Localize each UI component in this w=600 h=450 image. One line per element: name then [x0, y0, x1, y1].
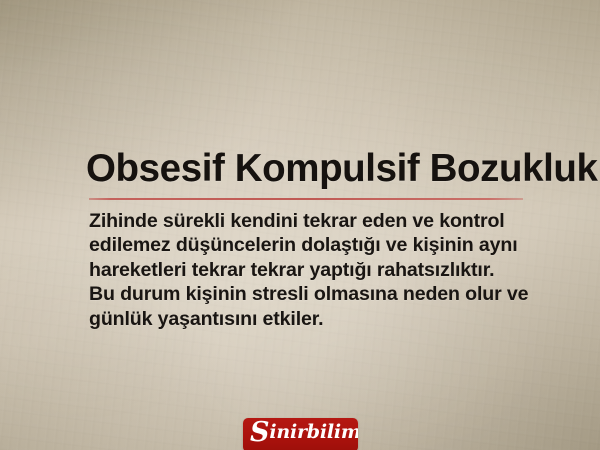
title-underline-rule [89, 198, 523, 200]
description-line: günlük yaşantısını etkiler. [89, 307, 519, 331]
poster-panel: Obsesif Kompulsif Bozukluk Zihinde sürek… [0, 0, 600, 450]
logo-initial: S [250, 418, 269, 448]
sinirbilim-logo-badge: Sinirbilim [243, 418, 358, 450]
description-line: edilemez düşüncelerin dolaştığı ve kişin… [89, 233, 519, 257]
page-title: Obsesif Kompulsif Bozukluk [86, 149, 546, 188]
description-line: Bu durum kişinin stresli olmasına neden … [89, 282, 519, 306]
poster-screenshot: Obsesif Kompulsif Bozukluk Zihinde sürek… [0, 0, 600, 450]
description-line: Zihinde sürekli kendini tekrar eden ve k… [89, 209, 519, 233]
logo-wordmark: Sinirbilim [251, 421, 358, 443]
logo-wordmark-rest: inirbilim [269, 421, 358, 443]
description-line: hareketleri tekrar tekrar yaptığı rahats… [89, 258, 519, 282]
description-text: Zihinde sürekli kendini tekrar eden ve k… [89, 209, 519, 331]
